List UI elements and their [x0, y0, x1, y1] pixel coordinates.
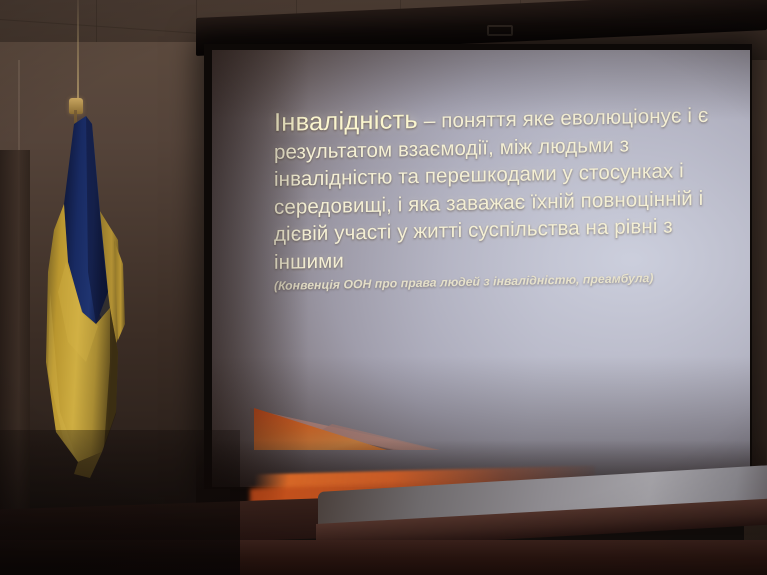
slide-body-line-1: поняття яке еволюціонує і: [441, 104, 692, 132]
roller-mount-bracket-icon: [487, 25, 513, 36]
flag-suspension-rope: [77, 0, 79, 100]
slide-title-word: Інвалідність: [274, 106, 418, 137]
slide-dash: –: [424, 110, 436, 133]
slide-body-line-4: середовищі, і яка заважає їхній повноцін…: [274, 187, 693, 219]
slide-text-block: Інвалідність – поняття яке еволюціонує і…: [274, 100, 744, 294]
orange-triangle-accent: [212, 350, 750, 450]
slide-body-line-3: інвалідністю та перешкодами у стосунках …: [274, 159, 684, 191]
slide-paragraph: Інвалідність – поняття яке еволюціонує і…: [274, 100, 744, 276]
presentation-photo: Інвалідність – поняття яке еволюціонує і…: [0, 0, 767, 575]
projection-screen: Інвалідність – поняття яке еволюціонує і…: [212, 50, 750, 487]
dark-foreground-left: [0, 430, 240, 575]
slide-body-line-6: іншими: [274, 249, 344, 273]
ukrainian-flag: [26, 112, 144, 482]
